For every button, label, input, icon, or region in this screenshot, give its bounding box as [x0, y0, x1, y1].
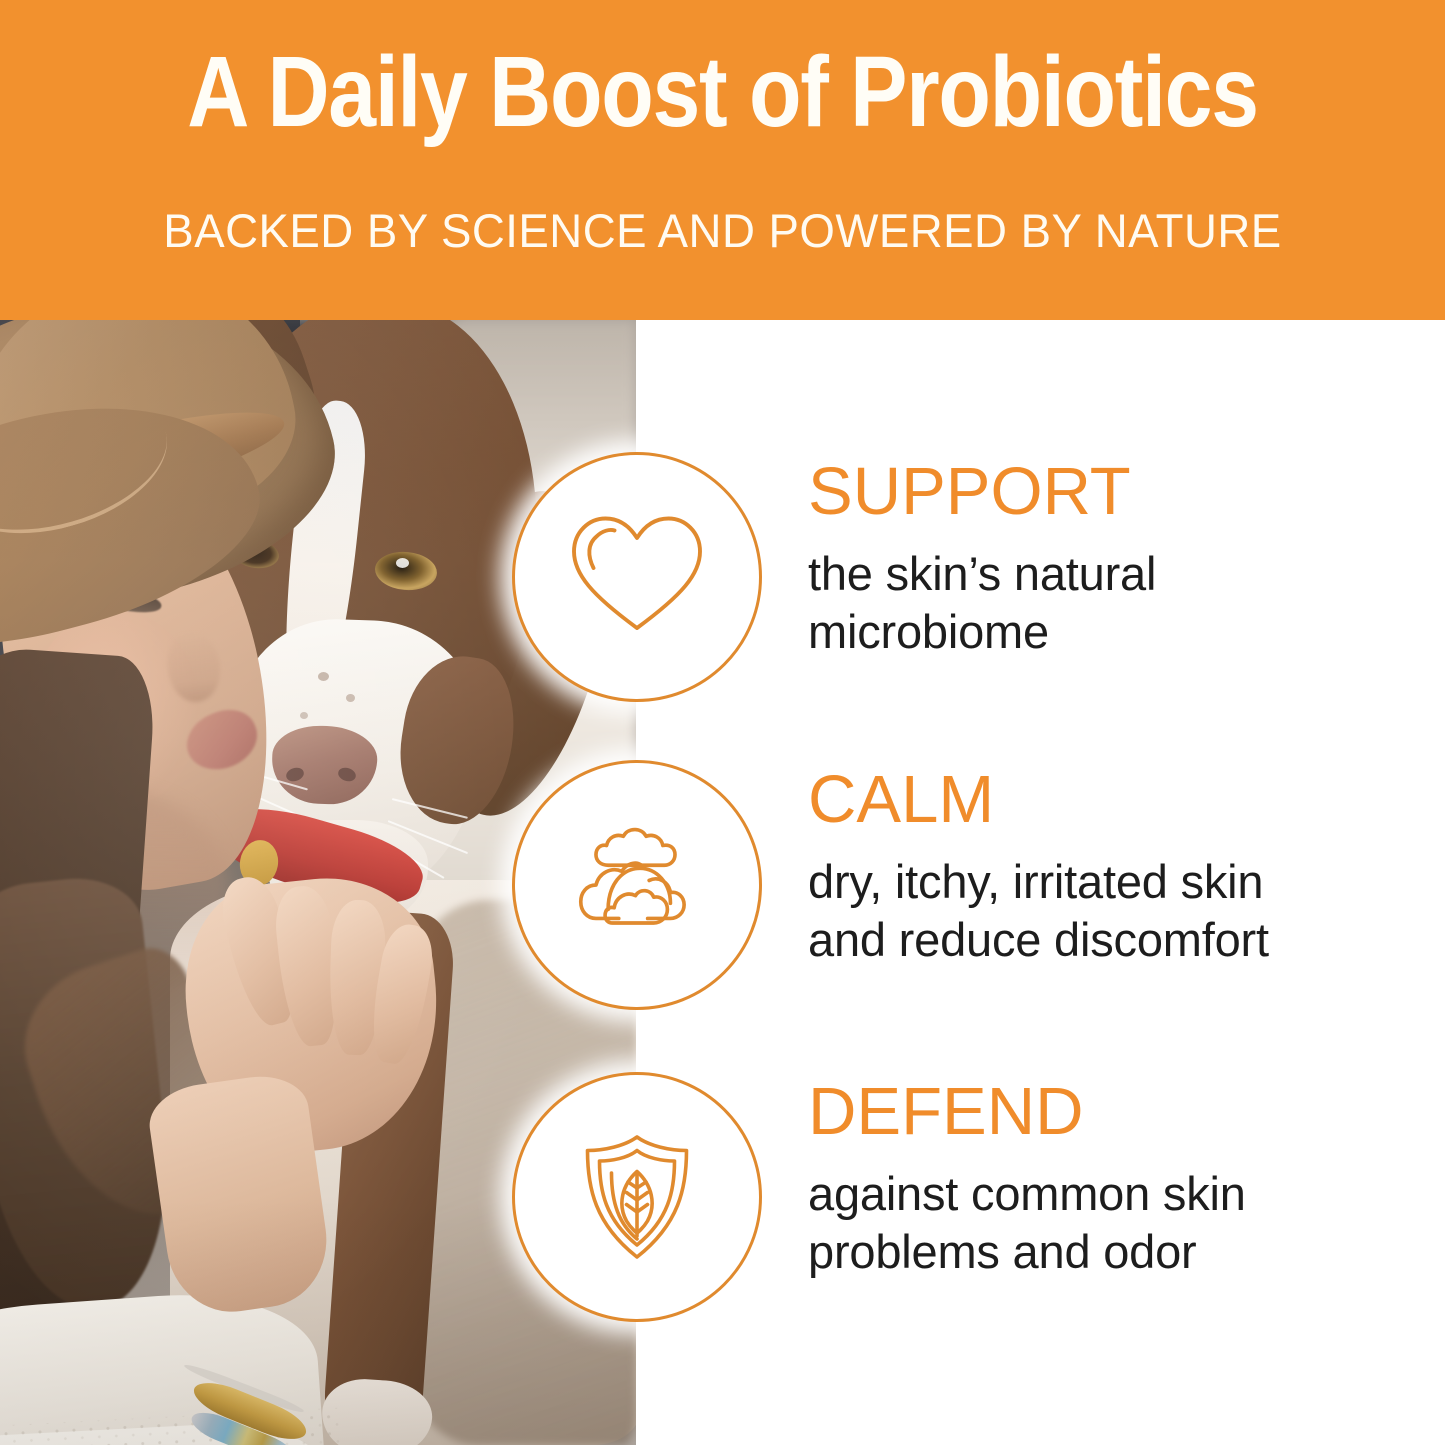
feature-row-calm: CALM dry, itchy, irritated skin and redu…: [0, 760, 1445, 1010]
feature-text-support: SUPPORT the skin’s natural microbiome: [808, 458, 1418, 662]
feature-description-line: and reduce discomfort: [808, 911, 1418, 969]
feature-description-line: against common skin: [808, 1165, 1418, 1223]
infographic-page: A Daily Boost of Probiotics BACKED BY SC…: [0, 0, 1445, 1445]
feature-title: CALM: [808, 766, 1418, 833]
feature-row-defend: DEFEND against common skin problems and …: [0, 1072, 1445, 1322]
feature-text-calm: CALM dry, itchy, irritated skin and redu…: [808, 766, 1418, 970]
feature-row-support: SUPPORT the skin’s natural microbiome: [0, 452, 1445, 702]
dog-freckle: [300, 712, 308, 719]
header-banner: A Daily Boost of Probiotics BACKED BY SC…: [0, 0, 1445, 320]
page-subtitle: BACKED BY SCIENCE AND POWERED BY NATURE: [22, 205, 1424, 257]
feature-text-defend: DEFEND against common skin problems and …: [808, 1078, 1418, 1282]
feature-description: dry, itchy, irritated skin and reduce di…: [808, 853, 1418, 970]
feature-title: SUPPORT: [808, 458, 1418, 525]
feature-title: DEFEND: [808, 1078, 1418, 1145]
shield-leaf-icon: [512, 1072, 762, 1322]
feature-description: the skin’s natural microbiome: [808, 545, 1418, 662]
feature-description: against common skin problems and odor: [808, 1165, 1418, 1282]
heart-icon: [512, 452, 762, 702]
feature-description-line: problems and odor: [808, 1223, 1418, 1281]
clouds-icon: [512, 760, 762, 1010]
feature-description-line: the skin’s natural: [808, 545, 1418, 603]
feature-description-line: microbiome: [808, 603, 1418, 661]
feature-description-line: dry, itchy, irritated skin: [808, 853, 1418, 911]
page-title: A Daily Boost of Probiotics: [101, 36, 1344, 148]
